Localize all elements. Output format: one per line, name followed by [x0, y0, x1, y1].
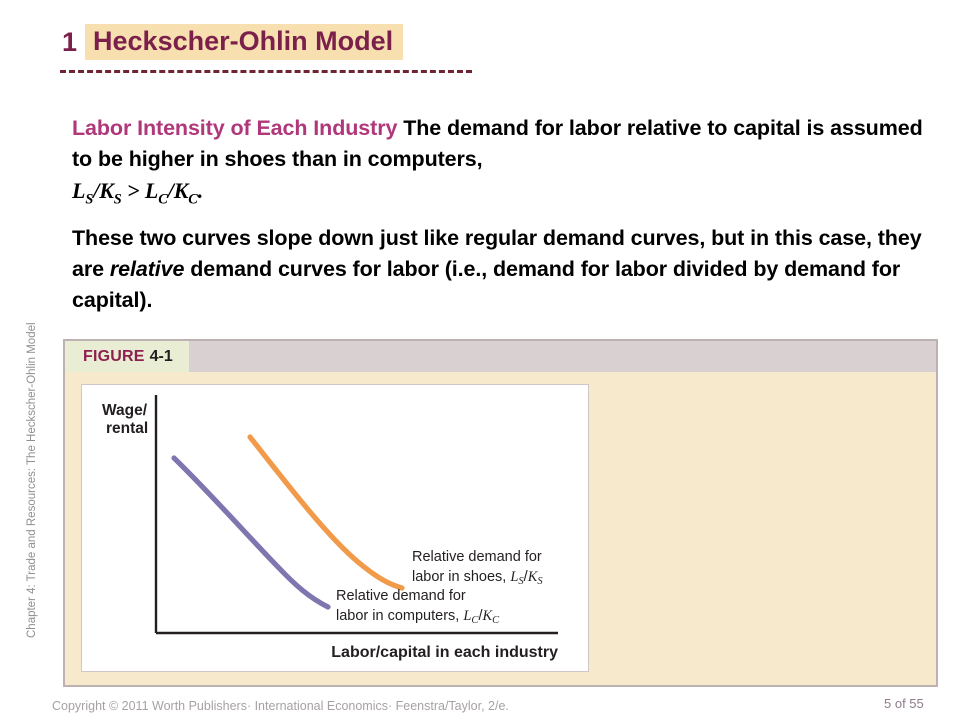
svg-text:labor in shoes, LS/KS: labor in shoes, LS/KS — [412, 569, 543, 587]
figure-header-bar: FIGURE 4-1 — [65, 341, 936, 372]
annotation-computers: Relative demand for labor in computers, … — [336, 588, 500, 626]
svg-text:labor in computers, LC/KC: labor in computers, LC/KC — [336, 608, 500, 626]
paragraph-1-lead-in: Labor Intensity of Each Industry — [72, 116, 397, 140]
page-title: 1 Heckscher-Ohlin Model — [62, 22, 403, 62]
figure-word: FIGURE — [83, 348, 145, 366]
copyright-footer: Copyright © 2011 Worth Publishers· Inter… — [52, 699, 509, 713]
title-divider — [60, 70, 472, 73]
figure-container: FIGURE 4-1 Wage/ rental Relative demand … — [63, 339, 938, 687]
figure-number: 4-1 — [150, 348, 173, 366]
chapter-rail-label: Chapter 4: Trade and Resources: The Heck… — [26, 248, 38, 638]
title-text: Heckscher-Ohlin Model — [85, 24, 403, 61]
page-indicator: 5 of 55 — [884, 696, 924, 711]
chart-panel: Wage/ rental Relative demand for labor i… — [81, 384, 589, 672]
y-axis-label-line1: Wage/ — [102, 402, 148, 419]
inline-formula: LS/KS > LC/KC. — [72, 178, 203, 203]
paragraph-2-post: demand curves for labor (i.e., demand fo… — [72, 257, 900, 312]
relative-labor-demand-chart: Wage/ rental Relative demand for labor i… — [82, 385, 588, 671]
paragraph-2-emphasis: relative — [110, 257, 185, 281]
paragraph-1: Labor Intensity of Each Industry The dem… — [72, 113, 938, 215]
annotation-shoes: Relative demand for labor in shoes, LS/K… — [412, 549, 543, 587]
series-curve-computers — [174, 458, 328, 607]
x-axis-label: Labor/capital in each industry — [331, 644, 558, 661]
y-axis-label-line2: rental — [106, 420, 148, 437]
svg-text:Relative demand for: Relative demand for — [412, 549, 542, 565]
figure-label-tag: FIGURE 4-1 — [65, 341, 189, 372]
section-number: 1 — [62, 29, 85, 56]
slide-body: Labor Intensity of Each Industry The dem… — [72, 113, 938, 324]
svg-text:Relative demand for: Relative demand for — [336, 588, 466, 604]
paragraph-2: These two curves slope down just like re… — [72, 223, 938, 316]
